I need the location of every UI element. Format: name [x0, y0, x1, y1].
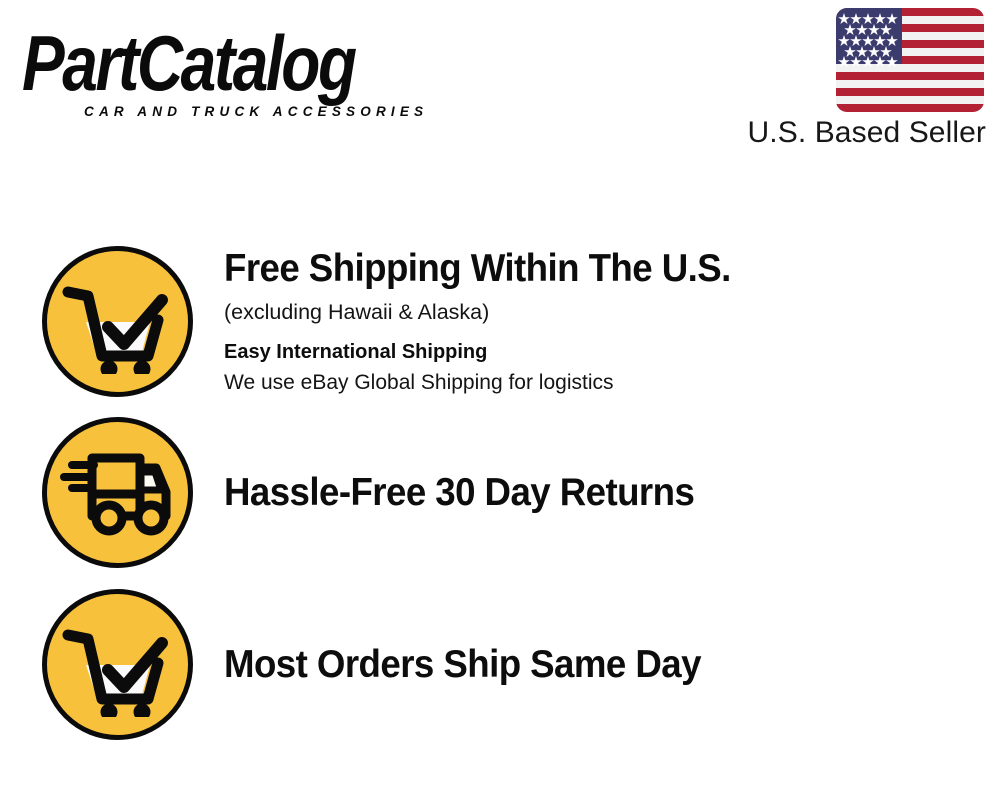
page-header: PartCatalog CAR AND TRUCK ACCESSORIES — [0, 0, 1000, 170]
us-flag-icon — [836, 8, 984, 112]
feature-secondary-title: Easy International Shipping — [224, 338, 980, 367]
feature-subtitle: (excluding Hawaii & Alaska) — [224, 297, 980, 327]
us-based-seller-label: U.S. Based Seller — [714, 116, 986, 150]
feature-text: Most Orders Ship Same Day — [224, 642, 1000, 688]
feature-title: Free Shipping Within The U.S. — [224, 246, 935, 292]
feature-text: Hassle-Free 30 Day Returns — [224, 470, 1000, 516]
feature-text: Free Shipping Within The U.S. (excluding… — [224, 246, 1000, 397]
us-based-seller-badge: U.S. Based Seller — [714, 8, 986, 150]
feature-row: Most Orders Ship Same Day — [0, 589, 1000, 740]
feature-row: Free Shipping Within The U.S. (excluding… — [0, 246, 1000, 397]
feature-title: Most Orders Ship Same Day — [224, 642, 935, 688]
brand-wordmark: PartCatalog — [22, 18, 478, 108]
feature-secondary-subtitle: We use eBay Global Shipping for logistic… — [224, 368, 980, 397]
brand-logo[interactable]: PartCatalog CAR AND TRUCK ACCESSORIES — [22, 18, 492, 118]
feature-title: Hassle-Free 30 Day Returns — [224, 470, 935, 516]
brand-tagline: CAR AND TRUCK ACCESSORIES — [84, 104, 428, 119]
feature-row: Hassle-Free 30 Day Returns — [0, 417, 1000, 568]
shopping-cart-check-icon — [42, 589, 193, 740]
shopping-cart-check-icon — [42, 246, 193, 397]
delivery-truck-icon — [42, 417, 193, 568]
